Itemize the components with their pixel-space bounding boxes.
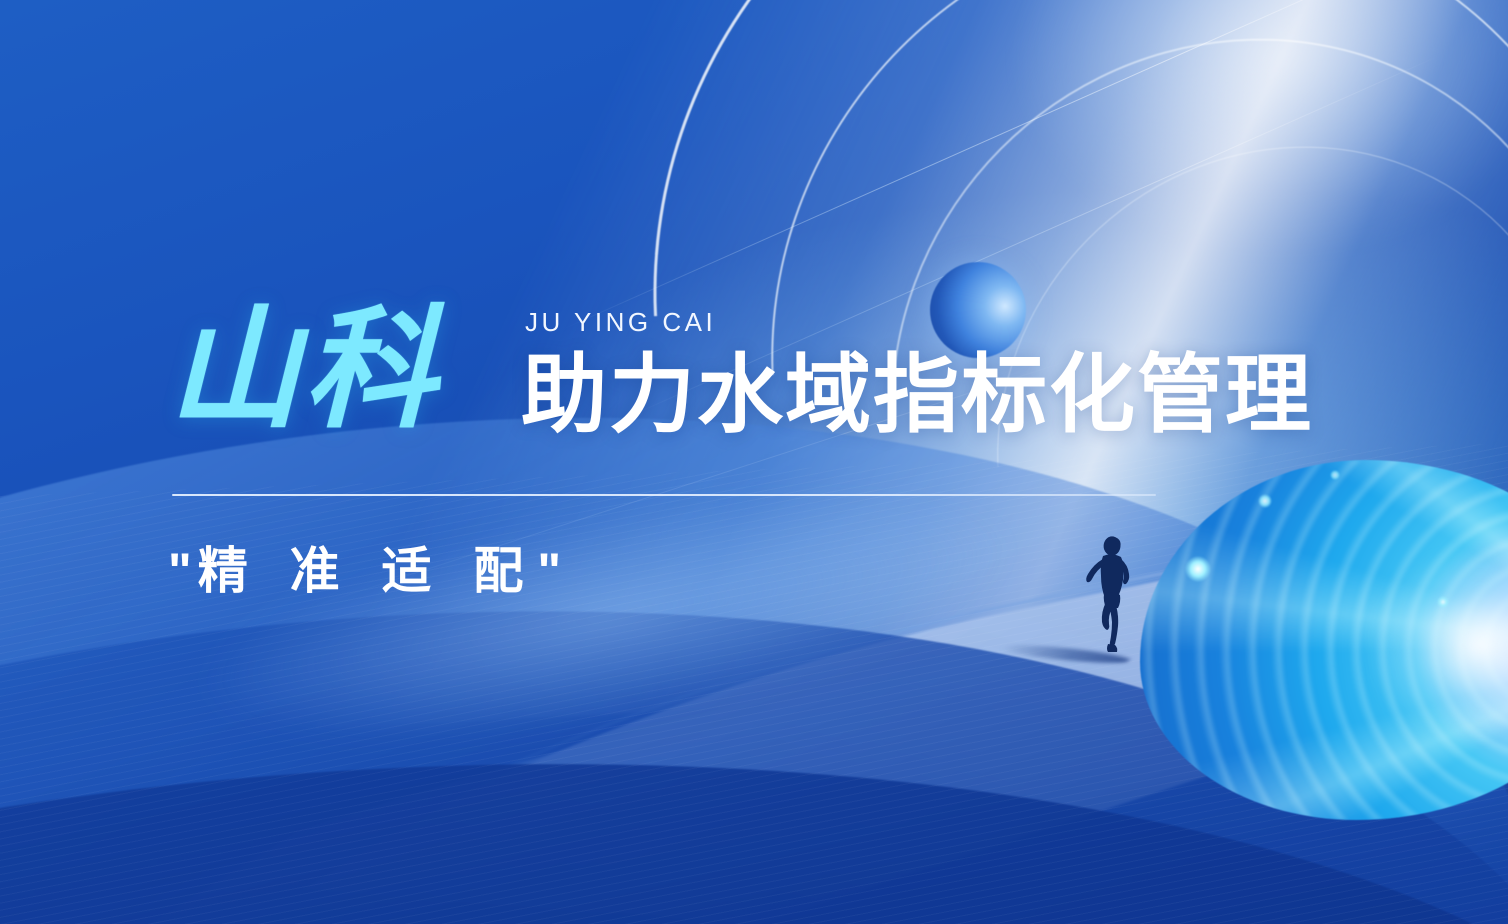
divider-line [172, 494, 1156, 496]
text-content: 山科 JU YING CAI 助力水域指标化管理 "精 准 适 配" [0, 0, 1508, 924]
brand-pinyin: JU YING CAI [525, 307, 716, 338]
tagline-text: 精 准 适 配 [198, 543, 538, 599]
banner-root: 山科 JU YING CAI 助力水域指标化管理 "精 准 适 配" [0, 0, 1508, 924]
tagline: "精 准 适 配" [168, 546, 567, 596]
headline: 助力水域指标化管理 [521, 352, 1313, 438]
tagline-close-quote: " [537, 543, 567, 599]
brand-logo-text: 山科 [168, 304, 440, 436]
tagline-open-quote: " [168, 543, 198, 599]
